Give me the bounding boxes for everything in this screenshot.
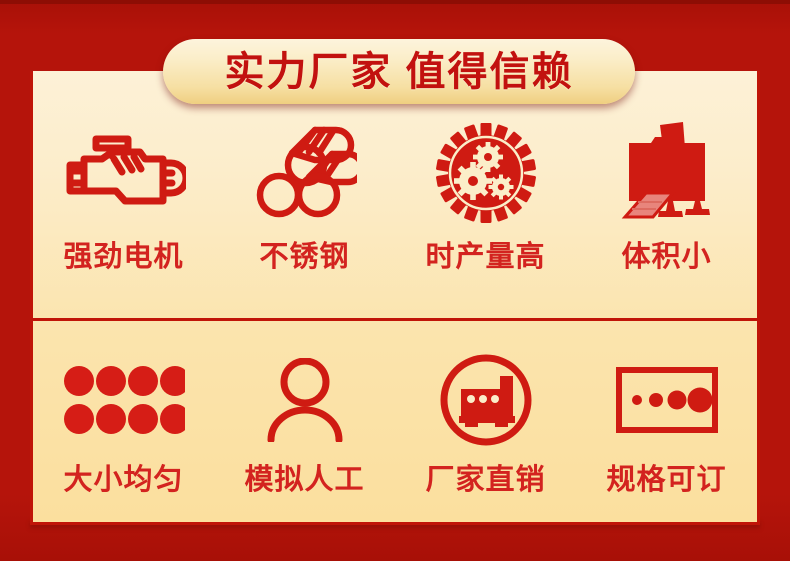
title-banner-pill: 实力厂家 值得信赖 (163, 39, 635, 104)
feature-item-stainless-steel[interactable]: 不锈钢 (214, 71, 395, 318)
feature-row-bottom: 大小均匀 模拟人工 (33, 321, 757, 525)
feature-item-engine[interactable]: 强劲电机 (33, 71, 214, 318)
feature-item-output[interactable]: 时产量高 (395, 71, 576, 318)
engine-icon (62, 117, 186, 229)
machine-icon (613, 117, 721, 229)
banner-title: 实力厂家 值得信赖 (224, 52, 573, 92)
feature-label: 大小均匀 (63, 466, 183, 495)
uniform-dots-icon (63, 352, 185, 448)
feature-label: 体积小 (621, 243, 711, 272)
size-range-icon (615, 352, 719, 448)
feature-label: 模拟人工 (244, 466, 364, 495)
feature-label: 时产量高 (425, 243, 545, 272)
person-icon (266, 352, 344, 448)
feature-row-top: 强劲电机 (33, 71, 757, 318)
features-panel: 强劲电机 (30, 71, 760, 525)
feature-label: 厂家直销 (425, 466, 545, 495)
feature-item-direct-sales[interactable]: 厂家直销 (395, 321, 576, 525)
feature-label: 不锈钢 (259, 243, 349, 272)
feature-item-custom-spec[interactable]: 规格可订 (576, 321, 757, 525)
feature-item-uniform-size[interactable]: 大小均匀 (33, 321, 214, 525)
feature-label: 强劲电机 (63, 243, 183, 272)
feature-label: 规格可订 (606, 466, 726, 495)
promo-poster: 实力厂家 值得信赖 (0, 0, 790, 561)
steel-pipes-icon (253, 117, 357, 229)
feature-item-manual-simulation[interactable]: 模拟人工 (214, 321, 395, 525)
factory-circle-icon (439, 352, 533, 448)
top-edge-strip (0, 0, 790, 4)
feature-item-compact[interactable]: 体积小 (576, 71, 757, 318)
gears-icon (434, 117, 538, 229)
